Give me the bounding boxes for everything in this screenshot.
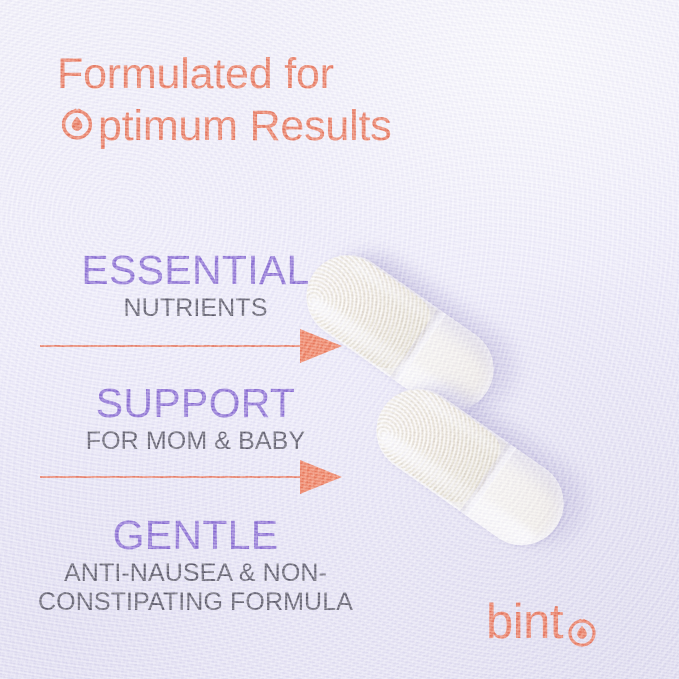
arrow-right-icon bbox=[40, 329, 342, 363]
arrow-right-icon bbox=[40, 460, 342, 494]
feature-subtitle: FOR MOM & BABY bbox=[18, 427, 373, 456]
arrow-shaft bbox=[40, 345, 304, 347]
brand-logo-text: bint bbox=[486, 598, 563, 647]
feature-subtitle: ANTI-NAUSEA & NON- CONSTIPATING FORMULA bbox=[18, 559, 373, 617]
product-feature-poster: Formulated for ptimum Results ESSENTIAL … bbox=[0, 0, 679, 679]
headline-line-1: Formulated for bbox=[57, 48, 527, 100]
arrow-shaft bbox=[40, 476, 304, 478]
arrow-head bbox=[300, 460, 342, 494]
page-title: Formulated for ptimum Results bbox=[57, 48, 527, 152]
droplet-leaf-o-icon bbox=[564, 611, 600, 647]
headline-line-2-text: ptimum Results bbox=[98, 100, 392, 152]
feature-support: SUPPORT FOR MOM & BABY bbox=[18, 381, 373, 456]
headline-line-2: ptimum Results bbox=[57, 100, 527, 152]
feature-subtitle-line-2: CONSTIPATING FORMULA bbox=[18, 588, 373, 617]
feature-subtitle-line-1: ANTI-NAUSEA & NON- bbox=[18, 559, 373, 588]
brand-logo: bint bbox=[486, 598, 601, 647]
feature-title: GENTLE bbox=[18, 513, 373, 557]
feature-gentle: GENTLE ANTI-NAUSEA & NON- CONSTIPATING F… bbox=[18, 513, 373, 617]
product-capsule bbox=[428, 362, 512, 572]
droplet-leaf-o-icon bbox=[57, 100, 97, 140]
feature-title: SUPPORT bbox=[18, 381, 373, 425]
